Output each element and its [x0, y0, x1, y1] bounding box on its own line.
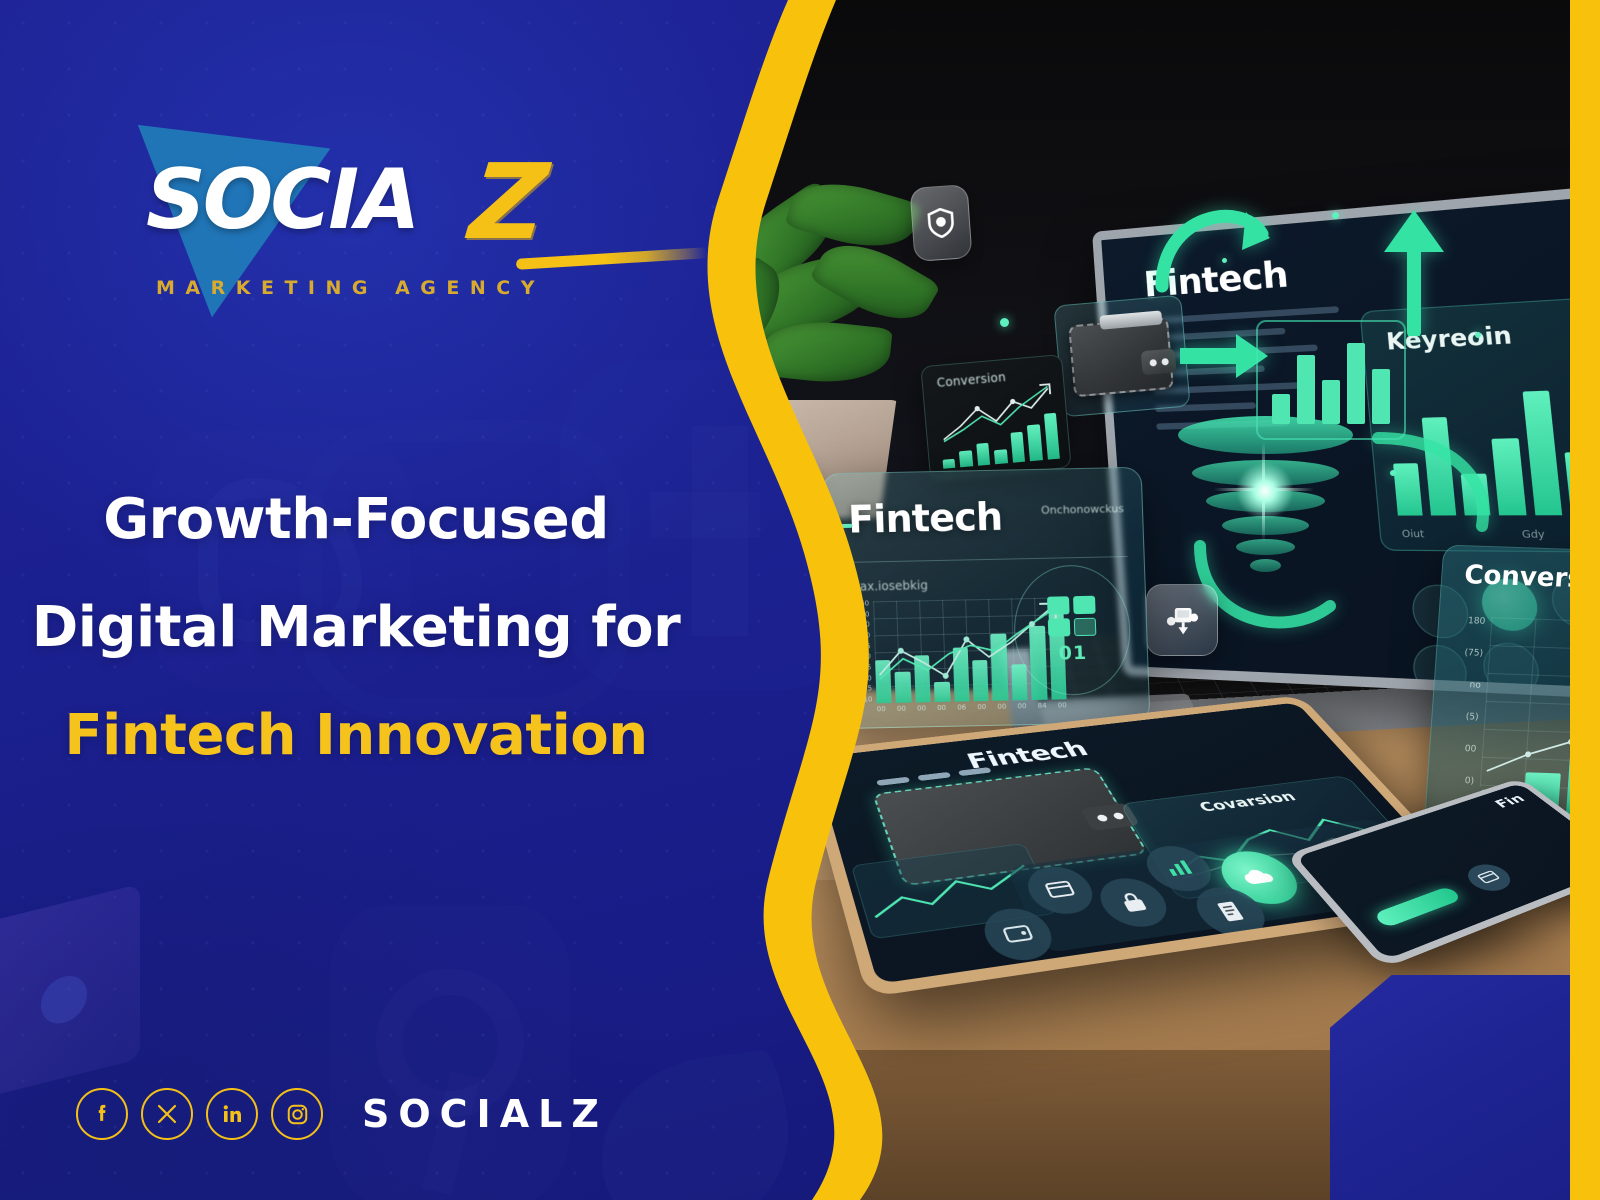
- cloud-icon: [1238, 866, 1281, 889]
- ytick: 180: [1468, 616, 1486, 627]
- social-media-marketing-graphic: SOCIA Z MARKETING AGENCY Growth-Focused …: [0, 0, 1600, 1200]
- shield-icon: [926, 207, 956, 239]
- document-icon: [1212, 899, 1248, 924]
- analytics-icon: [1164, 603, 1200, 637]
- xtick: 84: [1038, 702, 1047, 710]
- foreground-card-dial-value: 01: [1058, 642, 1087, 665]
- wallet-glass-card: [1053, 295, 1190, 418]
- ytick: no: [1469, 680, 1481, 690]
- xtick: 00: [1017, 702, 1026, 710]
- green-bars-chip: [1256, 320, 1406, 440]
- conversion-float-card: Conversion: [920, 354, 1071, 480]
- xtick: 00: [897, 705, 906, 713]
- glow-dot: [1475, 332, 1481, 338]
- conversion-float-bars: [939, 407, 1060, 469]
- foreground-fintech-card: Fintech Onchonowckus Dax.iosebkig 60 60 …: [822, 467, 1151, 730]
- foreground-card-title: Fintech: [847, 495, 1002, 542]
- curved-arrow-right-icon: [1372, 426, 1502, 546]
- lock-icon: [1115, 890, 1151, 915]
- foreground-card-corner-label: Onchonowckus: [1041, 502, 1124, 517]
- xtick: 06: [957, 703, 966, 711]
- phone-app-icon[interactable]: [1460, 860, 1519, 895]
- xtick: 00: [917, 704, 926, 712]
- funnel-glow: [1236, 462, 1294, 520]
- foreground-card-divider: [846, 556, 1128, 563]
- conversion-right-yticks: 180 (75) no (5) 00 0): [1444, 616, 1486, 787]
- phone-status-pill: [1373, 886, 1463, 928]
- glow-dot: [1390, 470, 1396, 476]
- curved-arrow-icon: [1150, 190, 1270, 300]
- xtick: Gdy: [1521, 529, 1545, 541]
- shield-tile[interactable]: [909, 184, 972, 262]
- wallet-icon: [1068, 317, 1174, 397]
- xtick: 00: [877, 705, 886, 713]
- phone-title: Fin: [1491, 792, 1528, 810]
- grid-tiles-icon: [1047, 596, 1096, 637]
- right-yellow-strip: [1570, 0, 1600, 1200]
- xtick: 00: [997, 703, 1006, 711]
- analytics-tile[interactable]: [1146, 584, 1218, 656]
- foreground-card-axis-label: Dax.iosebkig: [850, 578, 928, 594]
- chart-icon: [1160, 857, 1197, 879]
- wallet-icon: [1000, 923, 1036, 946]
- ytick: (75): [1464, 648, 1483, 659]
- glow-dot: [1222, 258, 1227, 263]
- glow-dot: [1332, 212, 1339, 219]
- photo-panel: Fintech Keyreoin Oiut: [0, 0, 1600, 1200]
- xtick: 00: [937, 704, 946, 712]
- glow-dot: [1000, 318, 1009, 327]
- xtick: 00: [1058, 701, 1067, 709]
- photo-corner-blue-overlay: [1330, 975, 1600, 1200]
- card-icon: [1475, 869, 1503, 886]
- ytick: (5): [1465, 712, 1478, 722]
- card-icon: [1042, 879, 1078, 902]
- foreground-card-xticks: 00 00 00 00 06 00 00 00 84 00: [877, 701, 1067, 713]
- wallet-clasp: [1141, 348, 1177, 375]
- ytick: 00: [1464, 744, 1476, 754]
- xtick: 00: [977, 703, 986, 711]
- up-arrow-icon: [1378, 206, 1458, 336]
- ytick: 0): [1464, 776, 1474, 786]
